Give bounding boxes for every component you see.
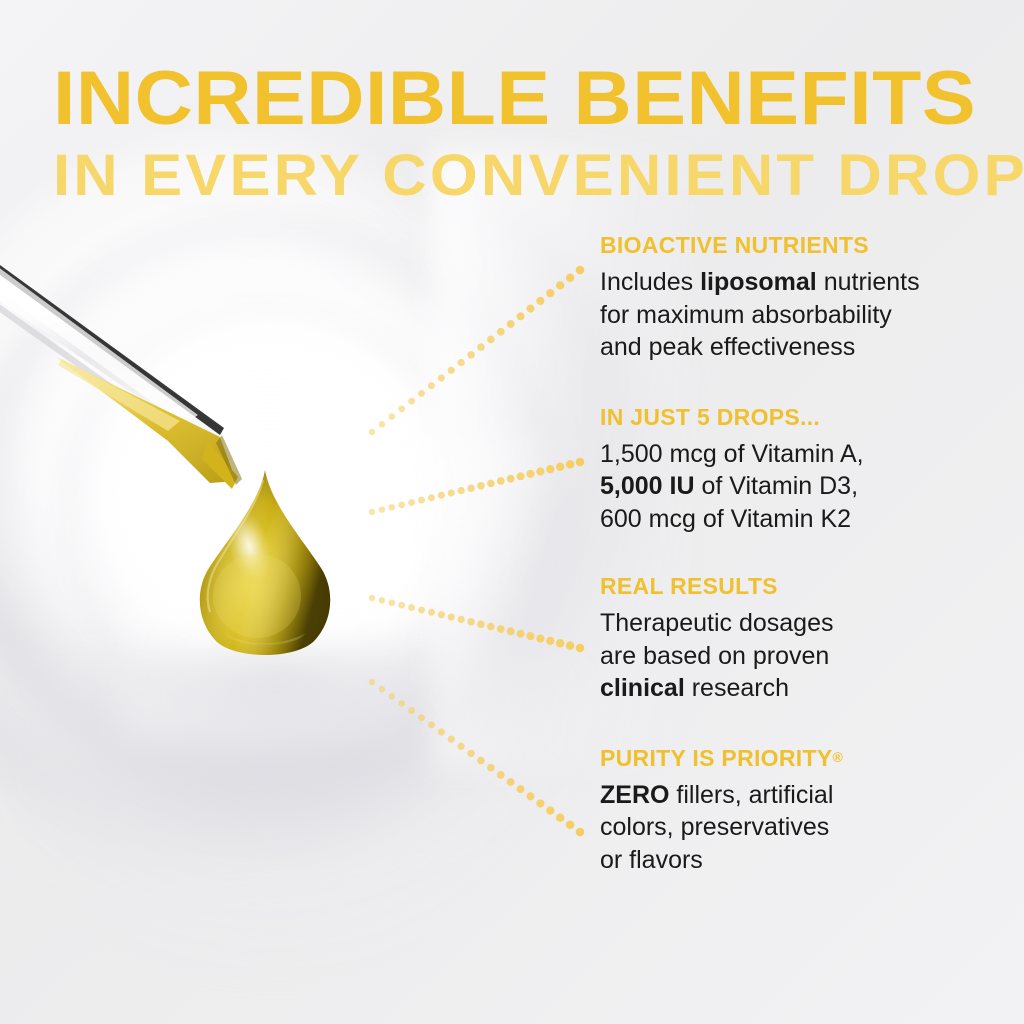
body-text: research	[685, 674, 789, 702]
benefit-heading-bioactive-nutrients: BIOACTIVE NUTRIENTS	[600, 232, 1010, 259]
benefit-body-in-just-5-drops: 1,500 mcg of Vitamin A,5,000 IU of Vitam…	[600, 438, 1010, 536]
body-text: and peak effectiveness	[600, 333, 855, 361]
emphasis-text: ZERO	[600, 781, 669, 809]
benefit-heading-purity-text: PURITY IS PRIORITY	[600, 745, 832, 771]
benefit-body-real-results: Therapeutic dosagesare based on provencl…	[600, 607, 1010, 705]
benefit-block-in-just-5-drops: IN JUST 5 DROPS... 1,500 mcg of Vitamin …	[600, 404, 1010, 536]
headline-line-secondary: IN EVERY CONVENIENT DROP	[53, 148, 1024, 205]
benefit-heading-purity-is-priority: PURITY IS PRIORITY®	[600, 745, 1010, 772]
headline: INCREDIBLE BENEFITS IN EVERY CONVENIENT …	[53, 62, 983, 205]
registered-trademark-icon: ®	[832, 749, 843, 765]
benefit-block-purity-is-priority: PURITY IS PRIORITY® ZERO fillers, artifi…	[600, 745, 1010, 877]
benefit-heading-real-results: REAL RESULTS	[600, 573, 1010, 600]
benefit-block-real-results: REAL RESULTS Therapeutic dosagesare base…	[600, 573, 1010, 705]
emphasis-text: clinical	[600, 674, 685, 702]
body-text: nutrients	[817, 268, 920, 296]
body-text: Therapeutic dosages	[600, 609, 833, 637]
body-text: 1,500 mcg of Vitamin A,	[600, 440, 864, 468]
headline-line-primary: INCREDIBLE BENEFITS	[53, 62, 1024, 136]
body-text: colors, preservatives	[600, 813, 829, 841]
emphasis-text: liposomal	[700, 268, 817, 296]
body-text: or flavors	[600, 846, 703, 874]
body-text: for maximum absorbability	[600, 301, 892, 329]
body-text: of Vitamin D3,	[695, 472, 859, 500]
body-text: are based on proven	[600, 642, 829, 670]
benefit-body-bioactive-nutrients: Includes liposomal nutrientsfor maximum …	[600, 266, 1010, 364]
benefit-heading-in-just-5-drops: IN JUST 5 DROPS...	[600, 404, 1010, 431]
emphasis-text: 5,000 IU	[600, 472, 695, 500]
body-text: 600 mcg of Vitamin K2	[600, 505, 851, 533]
infographic-canvas: INCREDIBLE BENEFITS IN EVERY CONVENIENT …	[0, 0, 1024, 1024]
body-text: fillers, artificial	[669, 781, 833, 809]
benefits-list: BIOACTIVE NUTRIENTS Includes liposomal n…	[600, 232, 1010, 876]
benefit-body-purity-is-priority: ZERO fillers, artificialcolors, preserva…	[600, 779, 1010, 877]
benefit-block-bioactive-nutrients: BIOACTIVE NUTRIENTS Includes liposomal n…	[600, 232, 1010, 364]
body-text: Includes	[600, 268, 700, 296]
